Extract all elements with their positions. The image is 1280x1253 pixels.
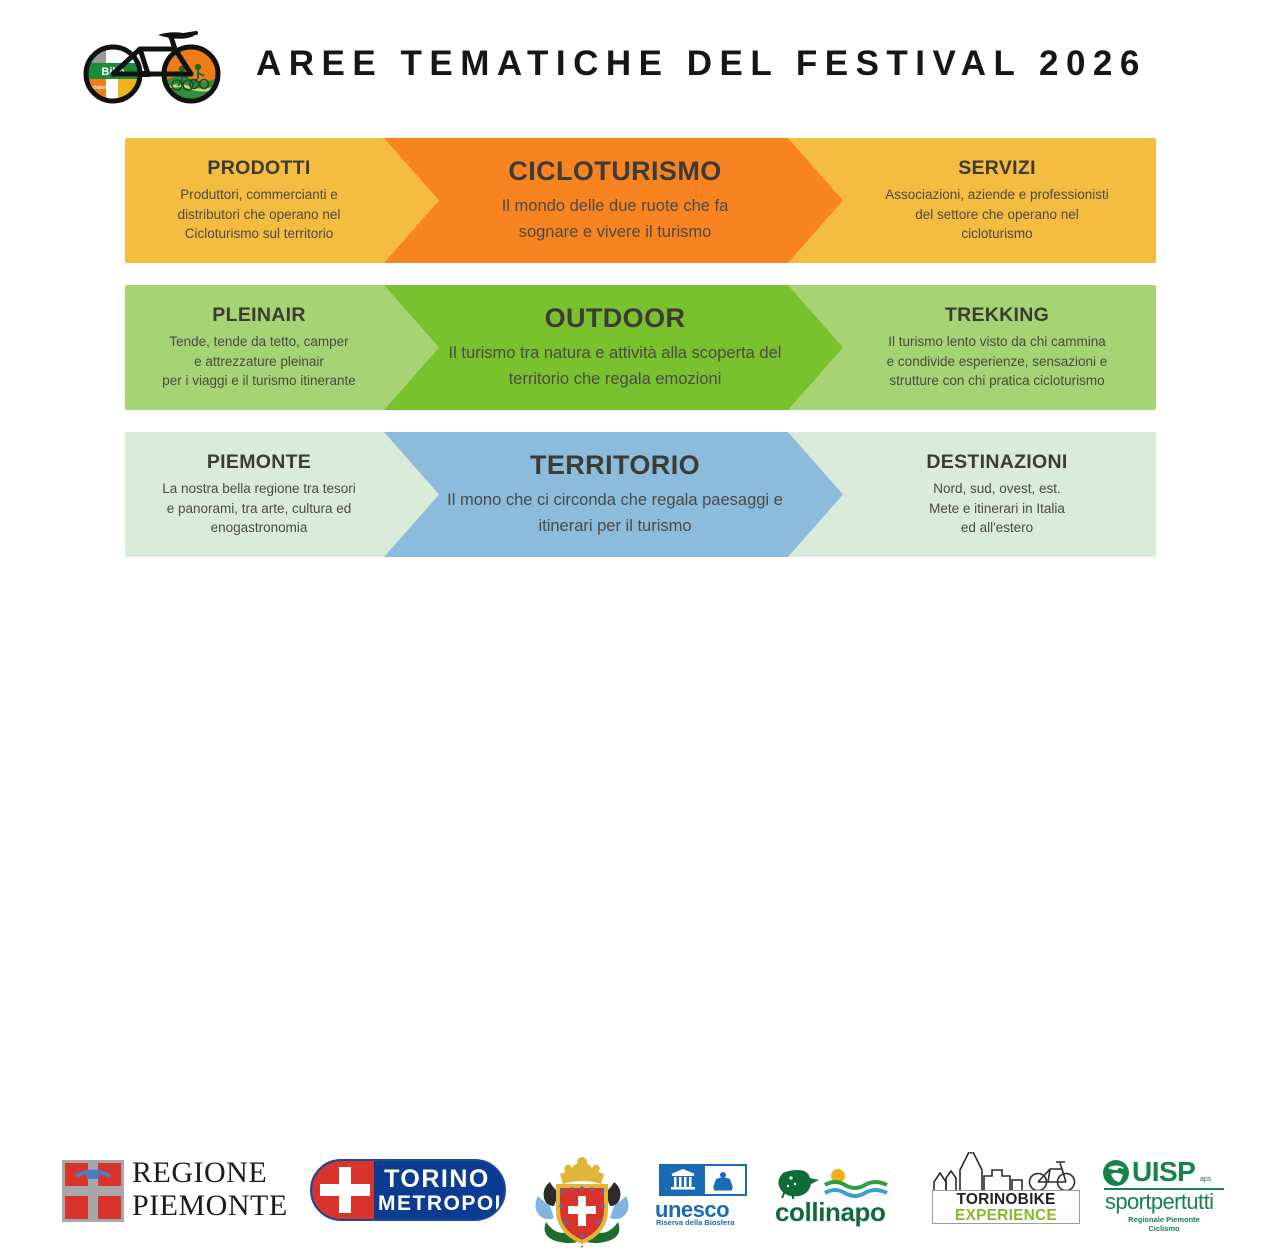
bicycle-logo-icon: Bike cicloturismo <box>78 19 228 109</box>
theme-band-territorio: PIEMONTE La nostra bella regione tra tes… <box>125 432 1156 557</box>
regione-piemonte-logo: REGIONE PIEMONTE <box>62 1158 294 1224</box>
column-title: TREKKING <box>945 304 1049 327</box>
band-column-destinazioni[interactable]: DESTINAZIONI Nord, sud, ovest, est. Mete… <box>847 432 1147 557</box>
collinapo-logo: collinapo <box>775 1167 903 1225</box>
logo-line-2: PIEMONTE <box>132 1189 288 1222</box>
uisp-emblem-icon <box>1102 1158 1132 1188</box>
band-column-trekking[interactable]: TREKKING Il turismo lento visto da chi c… <box>847 285 1147 410</box>
band-column-pleinair[interactable]: PLEINAIR Tende, tende da tetto, camper e… <box>133 285 385 410</box>
band-column-prodotti[interactable]: PRODOTTI Produttori, commercianti e dist… <box>133 138 385 263</box>
logo-line-1: REGIONE <box>132 1156 288 1189</box>
collinapo-wordmark: collinapo <box>775 1197 886 1228</box>
column-description: Nord, sud, ovest, est. Mete e itinerari … <box>929 479 1065 539</box>
torino-metropoli-logo: TORINO METROPOLI <box>310 1159 506 1221</box>
uisp-subtitle: Regionale Piemonte Ciclismo <box>1102 1215 1226 1233</box>
band-column-territorio[interactable]: TERRITORIO Il mono che ci circonda che r… <box>410 432 820 557</box>
torino-metropoli-pill: TORINO METROPOLI <box>310 1159 506 1221</box>
column-description: Il turismo lento visto da chi cammina e … <box>887 332 1108 392</box>
torinobike-wordmark: TORINOBIKE EXPERIENCE <box>932 1190 1080 1224</box>
column-title: TERRITORIO <box>530 450 700 481</box>
column-description: La nostra bella regione tra tesori e pan… <box>162 479 356 539</box>
column-title: PLEINAIR <box>212 304 305 327</box>
theme-band-cicloturismo: PRODOTTI Produttori, commercianti e dist… <box>125 138 1156 263</box>
collinapo-bird-icon <box>775 1167 903 1199</box>
uisp-wordmark: UISP <box>1132 1156 1195 1188</box>
sponsor-logo-strip: REGIONE PIEMONTE TORINO METROPOLI <box>0 570 1280 685</box>
torino-metropoli-wordmark: TORINO METROPOLI <box>378 1166 496 1215</box>
regione-piemonte-shield-icon <box>62 1160 124 1222</box>
column-description: Associazioni, aziende e professionisti d… <box>885 185 1109 245</box>
column-title: SERVIZI <box>958 157 1036 180</box>
sportpertutti-wordmark: sportpertutti <box>1105 1189 1213 1215</box>
uisp-subtitle-line-1: Regionale Piemonte <box>1102 1215 1226 1224</box>
uisp-sportpertutti-logo: UISP aps sportpertutti Regionale Piemont… <box>1102 1158 1226 1232</box>
logo-line-2: EXPERIENCE <box>933 1208 1079 1224</box>
regione-piemonte-wordmark: REGIONE PIEMONTE <box>132 1156 288 1222</box>
logo-line-1: TORINOBIKE <box>933 1191 1079 1208</box>
band-column-servizi[interactable]: SERVIZI Associazioni, aziende e professi… <box>847 138 1147 263</box>
band-column-piemonte[interactable]: PIEMONTE La nostra bella regione tra tes… <box>133 432 385 557</box>
band-column-cicloturismo[interactable]: CICLOTURISMO Il mondo delle due ruote ch… <box>410 138 820 263</box>
turin-skyline-bicycle-icon <box>930 1152 1082 1192</box>
logo-line-1: TORINO <box>378 1166 496 1192</box>
column-description: Tende, tende da tetto, camper e attrezza… <box>162 332 356 392</box>
theme-band-outdoor: PLEINAIR Tende, tende da tetto, camper e… <box>125 285 1156 410</box>
unesco-logo: unesco Riserva della Biosfera <box>655 1164 765 1226</box>
uisp-aps-label: aps <box>1200 1176 1211 1183</box>
torinobike-experience-logo: TORINOBIKE EXPERIENCE <box>930 1152 1082 1224</box>
column-description: Produttori, commercianti e distributori … <box>178 185 341 245</box>
column-description: Il mondo delle due ruote che fa sognare … <box>502 194 729 244</box>
column-description: Il turismo tra natura e attività alla sc… <box>449 341 782 391</box>
band-column-outdoor[interactable]: OUTDOOR Il turismo tra natura e attività… <box>410 285 820 410</box>
column-title: CICLOTURISMO <box>508 156 721 187</box>
savoy-cross-icon <box>312 1161 374 1219</box>
citta-di-torino-coat-of-arms-logo <box>528 1148 636 1248</box>
column-title: PIEMONTE <box>207 451 311 474</box>
page-title: AREE TEMATICHE DEL FESTIVAL 2026 <box>256 44 1147 84</box>
uisp-subtitle-line-2: Ciclismo <box>1102 1224 1226 1233</box>
page-header: Bike cicloturismo <box>0 0 1280 128</box>
column-title: DESTINAZIONI <box>926 451 1067 474</box>
logo-line-2: METROPOLI <box>378 1192 496 1215</box>
unesco-subtitle: Riserva della Biosfera <box>656 1218 734 1227</box>
column-title: OUTDOOR <box>545 303 686 334</box>
column-description: Il mono che ci circonda che regala paesa… <box>447 488 783 538</box>
unesco-emblem-icon <box>659 1164 747 1196</box>
column-title: PRODOTTI <box>207 157 310 180</box>
